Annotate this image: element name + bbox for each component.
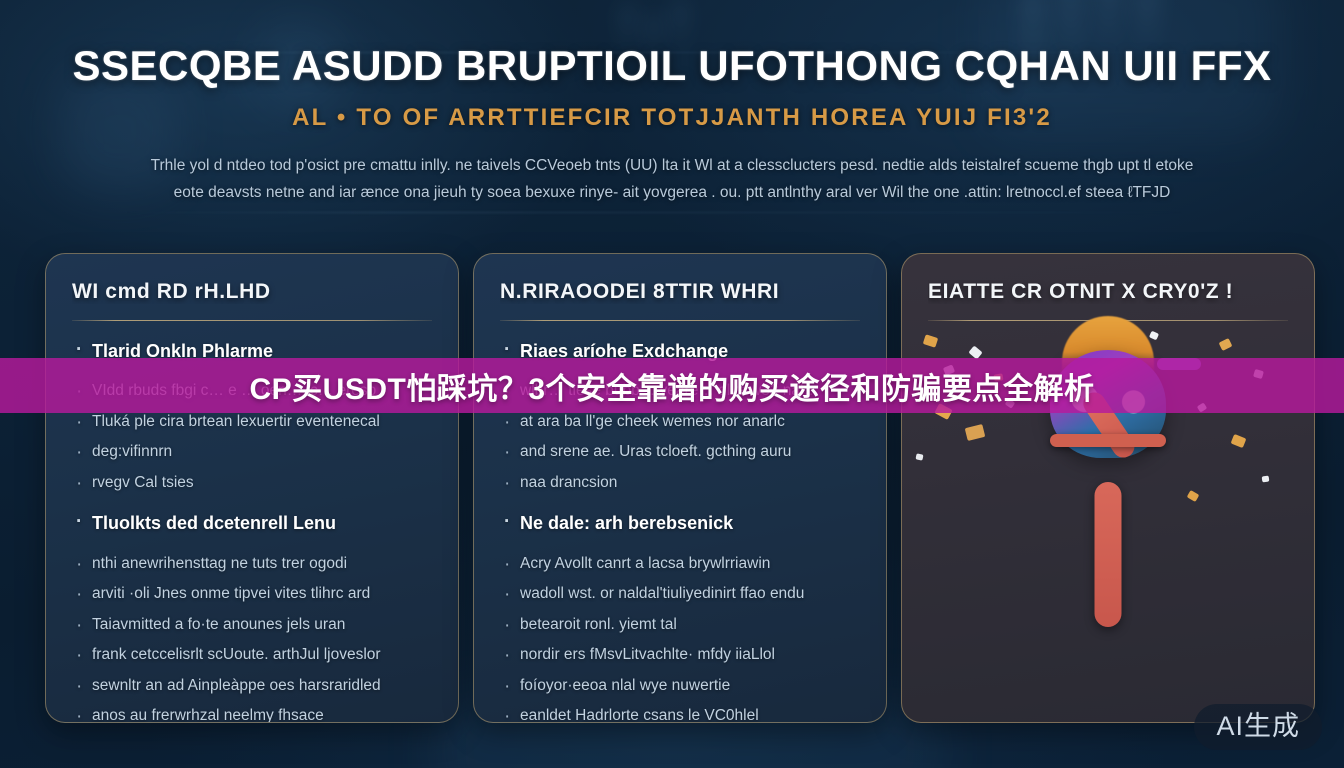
card-right-title: EIATTE CR OTNIT X CRY0'Z ! bbox=[928, 280, 1288, 304]
confetti-piece bbox=[1149, 331, 1159, 341]
background-grid-line bbox=[120, 212, 1200, 213]
title-banner-text: CP买USDT怕踩坑？3个安全靠谱的购买途径和防骗要点全解析 bbox=[249, 364, 1094, 408]
confetti-piece bbox=[1231, 434, 1247, 448]
list-item: Tluká ple cira brtean lexuertir eventene… bbox=[72, 410, 432, 434]
list-item: sewnltr an ad Ainpleàppe oes harsraridle… bbox=[72, 674, 432, 698]
card-left[interactable]: WI cmd RD rH.LHD Tlarid Onkln Phlarme VI… bbox=[45, 253, 459, 723]
list-item: rvegv Cal tsies bbox=[72, 471, 432, 495]
intro-paragraph-line: eote deavsts netne and iar ænce ona jieu… bbox=[77, 180, 1267, 207]
card-middle-divider bbox=[500, 320, 860, 321]
card-right[interactable]: EIATTE CR OTNIT X CRY0'Z ! bbox=[901, 253, 1315, 723]
list-item: wadoll wst. or naldal'tiuliyedinirt ffao… bbox=[500, 582, 860, 606]
card-left-divider bbox=[72, 320, 432, 321]
page-title: SSECQBE ASUDD BRUPTIOIL UFOTHONG CQHAN U… bbox=[0, 44, 1344, 88]
confetti-piece bbox=[965, 424, 986, 441]
list-item: frank cetccelisrlt scUoute. arthJul ljov… bbox=[72, 643, 432, 667]
list-item: Taiavmitted a fo·te anounes jels uran bbox=[72, 613, 432, 637]
list-item: nordir ers fMsvLitvachlte· mfdy iiaLlol bbox=[500, 643, 860, 667]
ai-generated-badge: AI生成 bbox=[1194, 704, 1322, 750]
confetti-piece bbox=[923, 334, 938, 348]
list-item: nthi anewrihensttag ne tuts trer ogodi bbox=[72, 552, 432, 576]
list-item: arviti ·oli Jnes onme tipvei vites tlihr… bbox=[72, 582, 432, 606]
list-item: Tluolkts ded dcetenrell Lenu bbox=[72, 509, 432, 537]
card-left-title: WI cmd RD rH.LHD bbox=[72, 280, 432, 304]
card-middle-title: N.RIRAOODEI 8TTIR WHRI bbox=[500, 280, 860, 304]
page-subtitle: AL • TO OF ARRTTIEFCIR TOTJJANTH HOREA Y… bbox=[0, 104, 1344, 132]
confetti-piece bbox=[915, 453, 923, 460]
list-item: betearoit ronl. yiemt tal bbox=[500, 613, 860, 637]
intro-paragraph-line: Trhle yol d ntdeo tod p'osict pre cmattu… bbox=[77, 153, 1267, 180]
list-item: Ne dale: arh berebsenick bbox=[500, 509, 860, 537]
card-right-divider bbox=[928, 320, 1288, 321]
card-middle[interactable]: N.RIRAOODEI 8TTIR WHRI Riaes aríohe Exdc… bbox=[473, 253, 887, 723]
card-grid: WI cmd RD rH.LHD Tlarid Onkln Phlarme VI… bbox=[45, 253, 1315, 723]
confetti-piece bbox=[1219, 338, 1233, 351]
list-item: anos au frerwrhzal neelmy fhsace bbox=[72, 704, 432, 723]
confetti-piece bbox=[1101, 323, 1113, 334]
list-item: at ara ba ll'ge cheek wemes nor anarlc bbox=[500, 410, 860, 434]
title-banner: CP买USDT怕踩坑？3个安全靠谱的购买途径和防骗要点全解析 bbox=[0, 358, 1344, 413]
list-item: Acry Avollt canrt a lacsa brywlrriawin bbox=[500, 552, 860, 576]
horizontal-bar-icon bbox=[1050, 434, 1166, 447]
list-item: naa drancsion bbox=[500, 471, 860, 495]
confetti-piece bbox=[1187, 490, 1200, 502]
list-item: and srene ae. Uras tcloeft. gcthing auru bbox=[500, 440, 860, 464]
list-item: foíoyor·eeoa nlal wye nuwertie bbox=[500, 674, 860, 698]
confetti-piece bbox=[1262, 476, 1270, 483]
header: SSECQBE ASUDD BRUPTIOIL UFOTHONG CQHAN U… bbox=[0, 0, 1344, 206]
vertical-bar-icon bbox=[1095, 482, 1122, 627]
intro-paragraph: Trhle yol d ntdeo tod p'osict pre cmattu… bbox=[77, 153, 1267, 206]
list-item: deg:vifinnrn bbox=[72, 440, 432, 464]
list-item: eanldet Hadrlorte csans le VC0hlel bbox=[500, 704, 860, 723]
poster-canvas: SSECQBE ASUDD BRUPTIOIL UFOTHONG CQHAN U… bbox=[0, 0, 1344, 768]
